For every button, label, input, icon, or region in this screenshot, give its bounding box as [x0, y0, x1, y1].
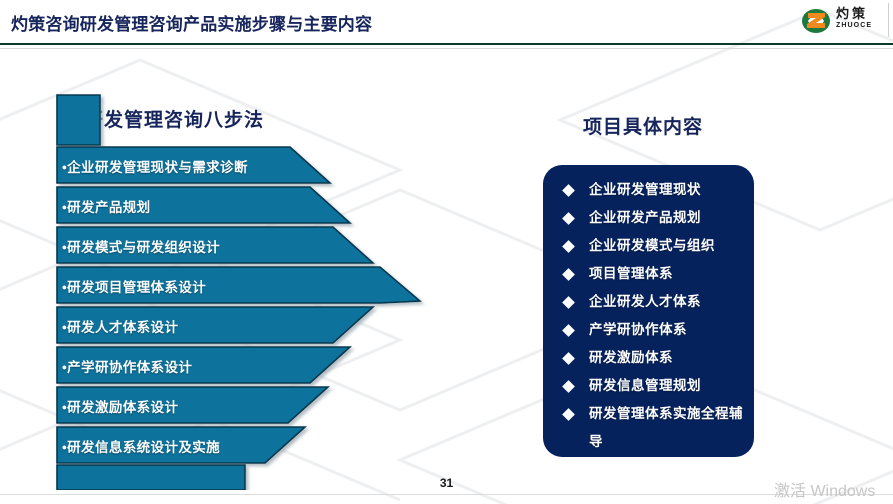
list-item: 企业研发模式与组织 — [543, 232, 754, 260]
list-item: 企业研发产品规划 — [543, 204, 754, 232]
list-item-label: 企业研发模式与组织 — [589, 238, 715, 253]
diamond-bullet-icon — [562, 184, 575, 197]
list-item-label: 产学研协作体系 — [589, 322, 687, 337]
list-item: 企业研发人才体系 — [543, 288, 754, 316]
eight-step-arrow-diagram: 研发管理咨询八步法 — [0, 50, 470, 490]
header-divider-secondary — [0, 48, 893, 49]
step-text: 产学研协作体系设计 — [67, 360, 192, 375]
diamond-bullet-icon — [562, 324, 575, 337]
arrow-step-label-8: •研发信息系统设计及实施 — [62, 436, 220, 456]
list-item: 产学研协作体系 — [543, 316, 754, 344]
arrow-step-label-6: •产学研协作体系设计 — [62, 356, 192, 376]
list-item: 研发信息管理规划 — [543, 372, 754, 400]
diamond-bullet-icon — [562, 380, 575, 393]
step-text: 研发信息系统设计及实施 — [67, 440, 220, 455]
arrow-step-label-2: •研发产品规划 — [62, 196, 151, 216]
list-item-label: 研发管理体系实施全程辅 — [589, 406, 743, 421]
list-item-label: 企业研发人才体系 — [589, 294, 701, 309]
diamond-bullet-icon — [562, 296, 575, 309]
step-text: 研发产品规划 — [67, 200, 150, 215]
slide-header: 灼策咨询研发管理咨询产品实施步骤与主要内容 — [0, 0, 893, 44]
step-text: 企业研发管理现状与需求诊断 — [67, 160, 248, 175]
project-content-panel: 企业研发管理现状 企业研发产品规划 企业研发模式与组织 项目管理体系 企业研发人… — [543, 165, 754, 457]
list-item-label: 企业研发管理现状 — [589, 182, 701, 197]
diamond-bullet-icon — [562, 240, 575, 253]
diamond-bullet-icon — [562, 268, 575, 281]
list-item-label-continued: 导 — [589, 428, 754, 456]
arrow-step-label-1: •企业研发管理现状与需求诊断 — [62, 156, 248, 176]
diamond-bullet-icon — [562, 352, 575, 365]
windows-activation-watermark: 激活 Windows — [774, 477, 875, 501]
step-text: 研发项目管理体系设计 — [67, 280, 206, 295]
list-item: 研发激励体系 — [543, 344, 754, 372]
diamond-bullet-icon — [562, 408, 575, 421]
arrow-step-label-5: •研发人才体系设计 — [62, 316, 178, 336]
page-number: 31 — [0, 476, 893, 490]
header-divider — [0, 43, 893, 45]
step-text: 研发激励体系设计 — [67, 400, 178, 415]
footer-divider — [0, 494, 893, 495]
page-title: 灼策咨询研发管理咨询产品实施步骤与主要内容 — [11, 10, 372, 35]
project-content-list: 企业研发管理现状 企业研发产品规划 企业研发模式与组织 项目管理体系 企业研发人… — [543, 165, 754, 457]
arrow-step-label-7: •研发激励体系设计 — [62, 396, 178, 416]
list-item-label: 研发信息管理规划 — [589, 378, 701, 393]
right-panel-title: 项目具体内容 — [583, 112, 703, 139]
list-item-continuation: 导 — [543, 428, 754, 456]
step-text: 研发人才体系设计 — [67, 320, 178, 335]
diamond-bullet-icon — [562, 212, 575, 225]
step-text: 研发模式与研发组织设计 — [67, 240, 220, 255]
list-item: 项目管理体系 — [543, 260, 754, 288]
list-item: 企业研发管理现状 — [543, 176, 754, 204]
arrow-neck — [57, 95, 100, 145]
slide-root: 灼策咨询研发管理咨询产品实施步骤与主要内容 灼策 ZHUOCE 研发管理咨询八步… — [0, 0, 893, 504]
list-item-label: 项目管理体系 — [589, 266, 673, 281]
list-item-label: 企业研发产品规划 — [589, 210, 701, 225]
arrow-shapes — [0, 50, 470, 490]
list-item-label: 研发激励体系 — [589, 350, 673, 365]
arrow-step-label-4: •研发项目管理体系设计 — [62, 276, 206, 296]
arrow-step-label-3: •研发模式与研发组织设计 — [62, 236, 220, 256]
list-item: 研发管理体系实施全程辅 — [543, 400, 754, 428]
